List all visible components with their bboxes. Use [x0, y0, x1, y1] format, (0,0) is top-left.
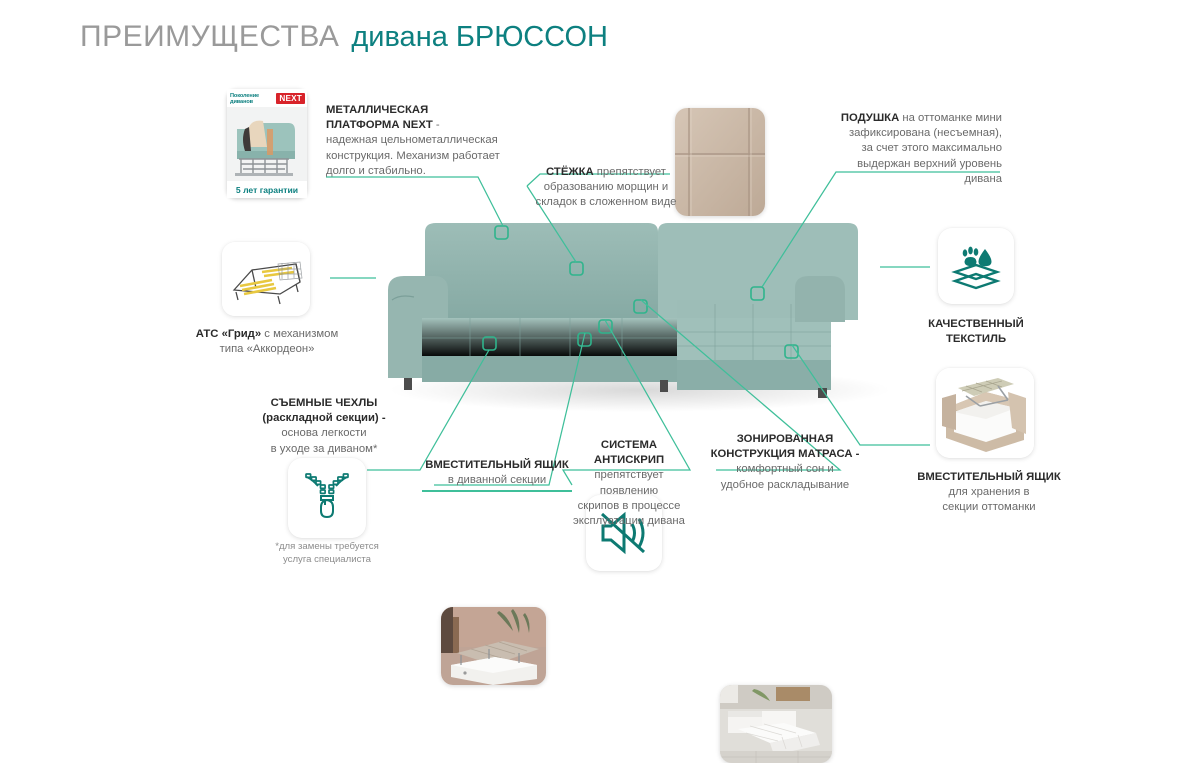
accordion-grid-frame-photo — [222, 242, 310, 316]
page-title-secondary: дивана БРЮССОН — [351, 21, 608, 54]
callout-pillow: ПОДУШКА на оттоманке мини зафиксирована … — [820, 111, 1002, 187]
callout-body-line: препятствует появлению — [566, 468, 692, 498]
callout-title2: КОНСТРУКЦИЯ МАТРАСА - — [705, 447, 865, 462]
callout-title: СТЁЖКА — [546, 166, 594, 178]
next-generation-badge: Поколение диванов NEXT 5 лет гарантии — [227, 89, 307, 198]
callout-body-line: комфортный сон и — [705, 462, 865, 477]
callout-body-line: препятствует — [597, 166, 666, 178]
callout-body-line: основа легкости — [240, 426, 408, 441]
callout-quilting: СТЁЖКА препятствует образованию морщин и… — [520, 165, 692, 211]
footnote-line: услуга специалиста — [262, 554, 392, 567]
callout-removable-covers: СЪЕМНЫЕ ЧЕХЛЫ (раскладной секции) - осно… — [240, 396, 408, 457]
callout-title: СИСТЕМА АНТИСКРИП — [566, 438, 692, 468]
callout-body-line: эксплуатации дивана — [566, 514, 692, 529]
armchair-mechanism-photo — [227, 107, 307, 181]
callout-title: ЗОНИРОВАННАЯ — [705, 432, 865, 447]
callout-body-line: надежная цельнометаллическая — [326, 133, 502, 148]
callout-body-line: зафиксирована (несъемная), — [820, 126, 1002, 141]
callout-body-line: конструкция. Механизм работает — [326, 149, 502, 164]
callout-body-line: скрипов в процессе — [566, 499, 692, 514]
white-unfolded-sofa-bed-photo — [720, 685, 832, 763]
sofa-storage-drawer-photo — [441, 607, 546, 685]
callout-body-line: секции оттоманки — [906, 500, 1072, 515]
accent-underline — [422, 490, 572, 492]
callout-title: АТС «Грид» — [196, 328, 261, 340]
callout-body-line: с механизмом — [264, 328, 338, 340]
ottoman-storage-box-photo — [936, 368, 1034, 458]
callout-covers-footnote: *для замены требуется услуга специалиста — [262, 541, 392, 566]
page-title-primary: ПРЕИМУЩЕСТВА — [80, 20, 339, 54]
badge-warranty-label: 5 лет гарантии — [227, 181, 307, 198]
page-title: ПРЕИМУЩЕСТВА дивана БРЮССОН — [80, 20, 608, 54]
callout-title2: ПЛАТФОРМА NEXT — [326, 119, 433, 131]
badge-header: Поколение диванов NEXT — [227, 89, 307, 107]
hotspot-marker — [483, 226, 798, 358]
callout-ottoman-drawer: ВМЕСТИТЕЛЬНЫЙ ЯЩИК для хранения в секции… — [906, 470, 1072, 516]
callout-body-line: образованию морщин и — [520, 180, 692, 195]
callout-metal-platform: МЕТАЛЛИЧЕСКАЯ ПЛАТФОРМА NEXT - надежная … — [326, 103, 502, 179]
badge-subtitle: Поколение диванов — [230, 93, 259, 105]
footnote-line: *для замены требуется — [262, 541, 392, 554]
callout-body-line: в уходе за диваном* — [240, 442, 408, 457]
callout-title2: (раскладной секции) - — [240, 411, 408, 426]
callout-title: СЪЕМНЫЕ ЧЕХЛЫ — [240, 396, 408, 411]
callout-title: ВМЕСТИТЕЛЬНЫЙ ЯЩИК — [422, 458, 572, 473]
callout-body-line: за счет этого максимально — [820, 141, 1002, 156]
callout-anti-squeak: СИСТЕМА АНТИСКРИП препятствует появлению… — [566, 438, 692, 529]
badge-line2: диванов — [230, 99, 253, 105]
callout-quality-textile: КАЧЕСТВЕННЫЙ ТЕКСТИЛЬ — [920, 317, 1032, 347]
callout-body-line: для хранения в — [906, 485, 1072, 500]
callout-title2: ТЕКСТИЛЬ — [920, 332, 1032, 347]
callout-zoned-mattress: ЗОНИРОВАННАЯ КОНСТРУКЦИЯ МАТРАСА - комфо… — [705, 432, 865, 493]
zipper-icon — [299, 469, 355, 527]
paw-waterdrop-fabric-icon — [950, 240, 1002, 292]
callout-body-line: в диванной секции — [422, 473, 572, 488]
callout-body-line: складок в сложенном виде — [520, 195, 692, 210]
callout-sofa-drawer: ВМЕСТИТЕЛЬНЫЙ ЯЩИК в диванной секции — [422, 458, 572, 492]
callout-atc-grid: АТС «Грид» с механизмом типа «Аккордеон» — [188, 327, 346, 357]
callout-body-line: типа «Аккордеон» — [188, 342, 346, 357]
callout-body-line: на оттоманке мини — [902, 112, 1002, 124]
quality-textile-icon-card — [938, 228, 1014, 304]
removable-covers-icon-card — [288, 458, 366, 538]
callout-title: ПОДУШКА — [841, 112, 899, 124]
callout-dash: - — [433, 119, 440, 131]
callout-title: ВМЕСТИТЕЛЬНЫЙ ЯЩИК — [906, 470, 1072, 485]
callout-body-line: удобное раскладывание — [705, 478, 865, 493]
callout-body-line: долго и стабильно. — [326, 164, 502, 179]
callout-title: КАЧЕСТВЕННЫЙ — [920, 317, 1032, 332]
badge-next-tag: NEXT — [276, 93, 305, 104]
callout-title: МЕТАЛЛИЧЕСКАЯ — [326, 103, 502, 118]
callout-body-line: выдержан верхний уровень дивана — [820, 157, 1002, 187]
